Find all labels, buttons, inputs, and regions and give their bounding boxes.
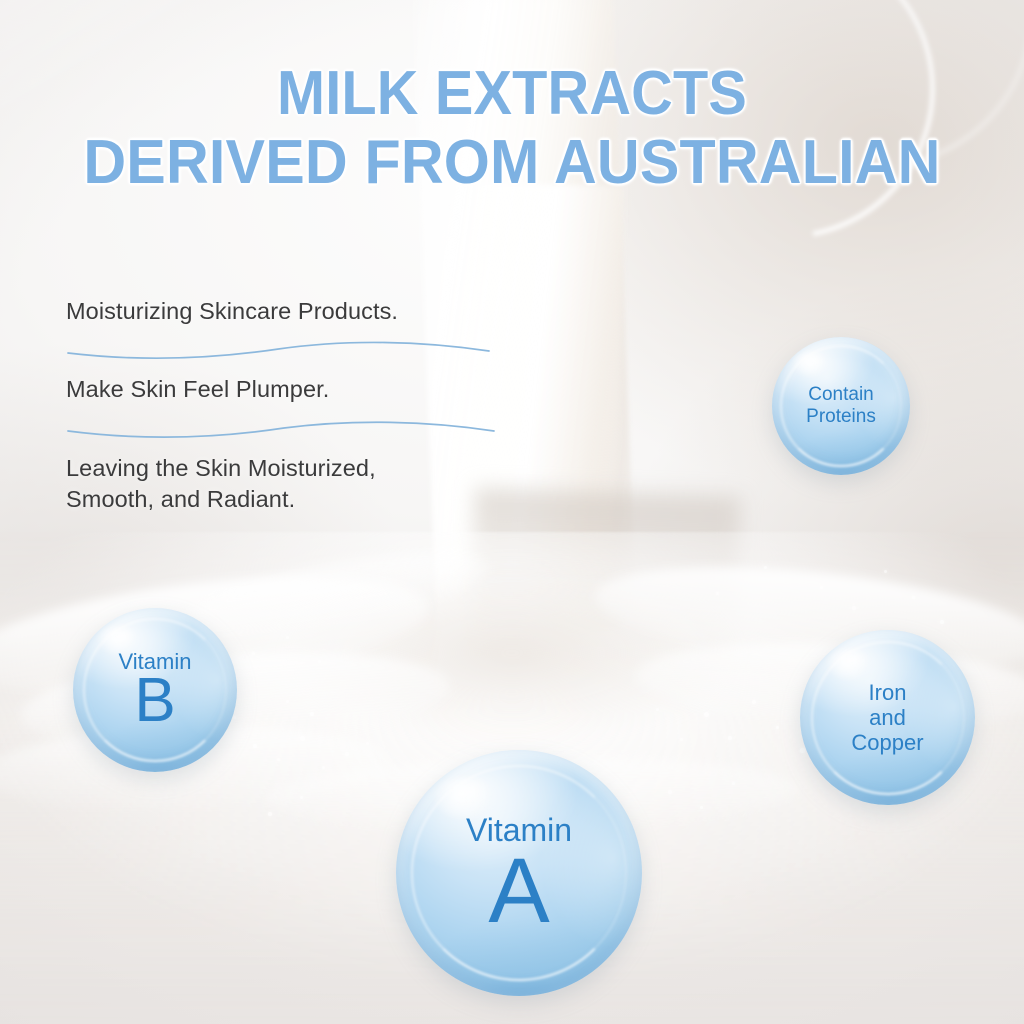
- wavy-divider-2: [66, 420, 496, 440]
- headline-line-2: DERIVED FROM AUSTRALIAN: [23, 133, 1001, 194]
- infographic-canvas: MILK EXTRACTS DERIVED FROM AUSTRALIAN Mo…: [0, 0, 1024, 1024]
- headline: MILK EXTRACTS DERIVED FROM AUSTRALIAN: [0, 64, 1024, 194]
- bubble-label-line-2: A: [488, 849, 549, 934]
- headline-line-1: MILK EXTRACTS: [36, 64, 988, 125]
- benefit-text-3b: Smooth, and Radiant.: [66, 484, 536, 515]
- bubble-contain-proteins: Contain Proteins: [772, 337, 910, 475]
- bubble-label-line-2: and: [869, 705, 906, 730]
- benefit-text-3a: Leaving the Skin Moisturized,: [66, 453, 536, 484]
- bubble-vitamin-a: Vitamin A: [396, 750, 642, 996]
- bubble-label-line-2: Proteins: [806, 406, 876, 428]
- benefit-text-1: Moisturizing Skincare Products.: [66, 296, 536, 327]
- benefits-list: Moisturizing Skincare Products. Make Ski…: [66, 296, 536, 515]
- bubble-iron-and-copper: Iron and Copper: [800, 630, 975, 805]
- bubble-label-line-1: Contain: [808, 384, 874, 406]
- bubble-vitamin-b: Vitamin B: [73, 608, 237, 772]
- bubble-label-line-2: B: [134, 672, 175, 731]
- bubble-label-line-1: Iron: [869, 680, 907, 705]
- bubble-label-line-3: Copper: [851, 730, 923, 755]
- wavy-divider-1: [66, 341, 491, 361]
- benefit-text-2: Make Skin Feel Plumper.: [66, 374, 536, 405]
